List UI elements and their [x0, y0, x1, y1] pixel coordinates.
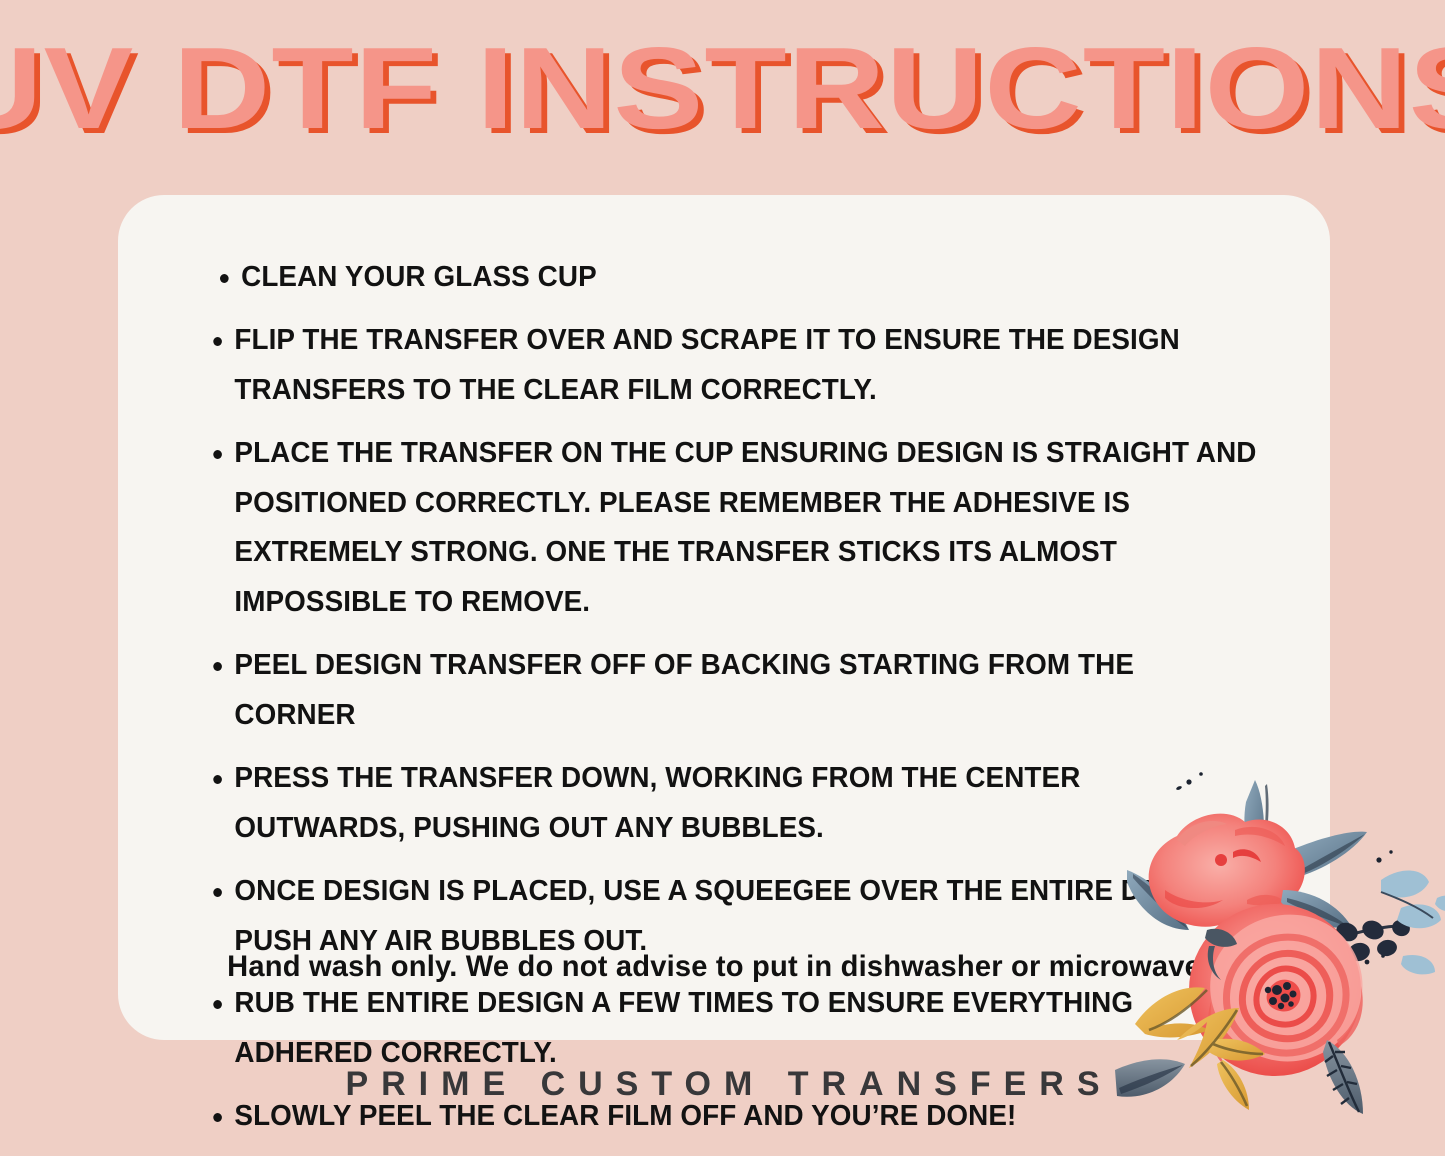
- care-note: Hand wash only. We do not advise to put …: [136, 950, 1312, 984]
- brand-name: PRIME CUSTOM TRANSFERS: [0, 1065, 1445, 1104]
- ink-specks-right: [1353, 850, 1392, 971]
- list-item: Peel design transfer off of backing star…: [196, 641, 1257, 741]
- instructions-list: Clean your glass cup Flip the transfer o…: [196, 253, 1301, 1155]
- page-title: UV DTF INSTRUCTIONS: [0, 28, 1445, 150]
- instruction-card-page: UV DTF INSTRUCTIONS Clean your glass cup…: [0, 0, 1445, 1156]
- buds-pale-blue: [1381, 870, 1445, 974]
- list-item: Place the transfer on the cup ensuring d…: [196, 429, 1257, 629]
- list-item: Flip the transfer over and scrape it to …: [196, 316, 1257, 416]
- instructions-card: Clean your glass cup Flip the transfer o…: [118, 195, 1330, 1040]
- berry-sprig-navy: [1318, 917, 1412, 963]
- list-item: Clean your glass cup: [196, 253, 1257, 303]
- list-item: Press the transfer down, working from th…: [196, 754, 1257, 854]
